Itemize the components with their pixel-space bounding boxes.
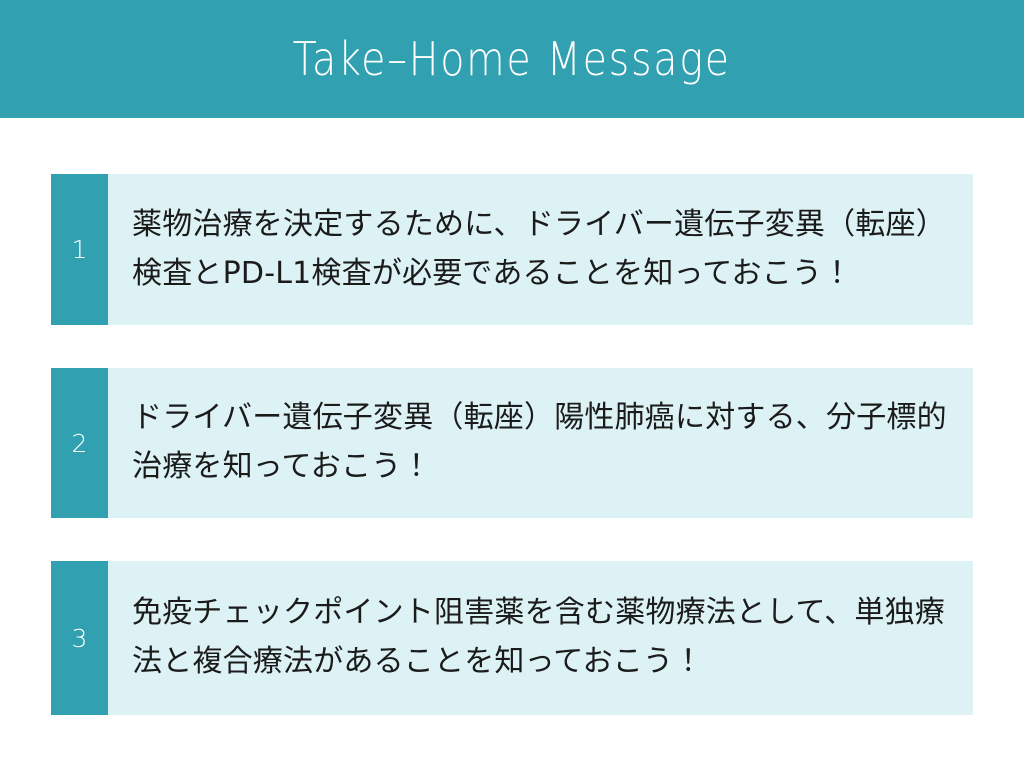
message-panel: 免疫チェックポイント阻害薬を含む薬物療法として、単独療法と複合療法があることを知… [108,561,973,715]
list-item: 1 薬物治療を決定するために、ドライバー遺伝子変異（転座）検査とPD-L1検査が… [51,174,973,325]
message-number-badge: 3 [51,561,108,715]
take-home-message-list: 1 薬物治療を決定するために、ドライバー遺伝子変異（転座）検査とPD-L1検査が… [51,174,973,715]
header-band: Take–Home Message [0,0,1024,118]
message-text: ドライバー遺伝子変異（転座）陽性肺癌に対する、分子標的治療を知っておこう！ [132,394,951,491]
page-title: Take–Home Message [293,36,731,82]
slide-canvas: Take–Home Message 1 薬物治療を決定するために、ドライバー遺伝… [0,0,1024,768]
list-item: 2 ドライバー遺伝子変異（転座）陽性肺癌に対する、分子標的治療を知っておこう！ [51,368,973,518]
message-text: 免疫チェックポイント阻害薬を含む薬物療法として、単独療法と複合療法があることを知… [132,589,951,686]
message-text: 薬物治療を決定するために、ドライバー遺伝子変異（転座）検査とPD-L1検査が必要… [132,201,951,298]
message-number-badge: 2 [51,368,108,518]
message-number-badge: 1 [51,174,108,325]
message-panel: ドライバー遺伝子変異（転座）陽性肺癌に対する、分子標的治療を知っておこう！ [108,368,973,518]
message-panel: 薬物治療を決定するために、ドライバー遺伝子変異（転座）検査とPD-L1検査が必要… [108,174,973,325]
list-item: 3 免疫チェックポイント阻害薬を含む薬物療法として、単独療法と複合療法があること… [51,561,973,715]
